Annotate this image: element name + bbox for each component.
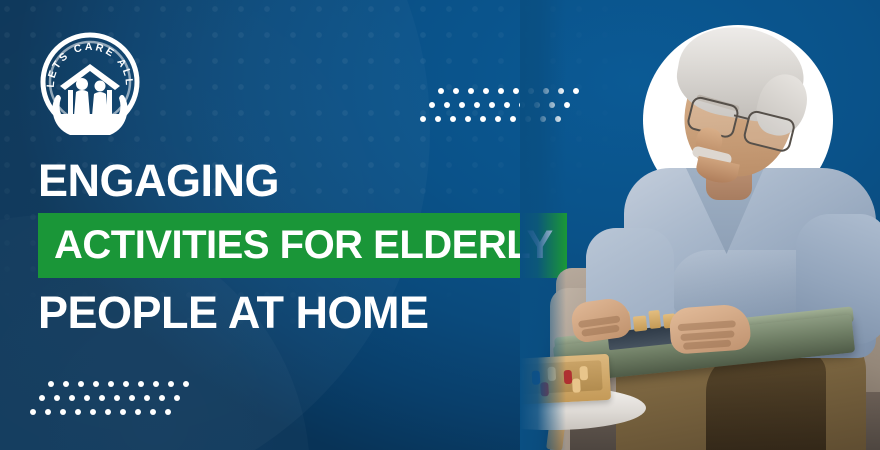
headline-line-2: ACTIVITIES FOR ELDERLY [54,223,553,267]
dot-grid-row [48,381,198,387]
dot-grid-row [30,409,198,415]
lets-care-all-logo[interactable]: LETS CARE ALL [32,24,148,140]
person-hand-right [668,303,751,354]
headline-line-1: ENGAGING [38,158,558,203]
hero-banner: LETS CARE ALL ENGAGING ACTIVITIES FOR EL… [0,0,880,450]
dot-grid-row [39,395,198,401]
photo-left-fade [520,0,566,450]
headline-line-3: PEOPLE AT HOME [38,290,558,335]
hero-photo [520,0,880,450]
headline-highlight-band: ACTIVITIES FOR ELDERLY [38,213,567,278]
headline-block: ENGAGING ACTIVITIES FOR ELDERLY PEOPLE A… [38,158,558,335]
dot-grid-bottom [48,381,198,423]
person-legs-shadow [706,352,826,450]
